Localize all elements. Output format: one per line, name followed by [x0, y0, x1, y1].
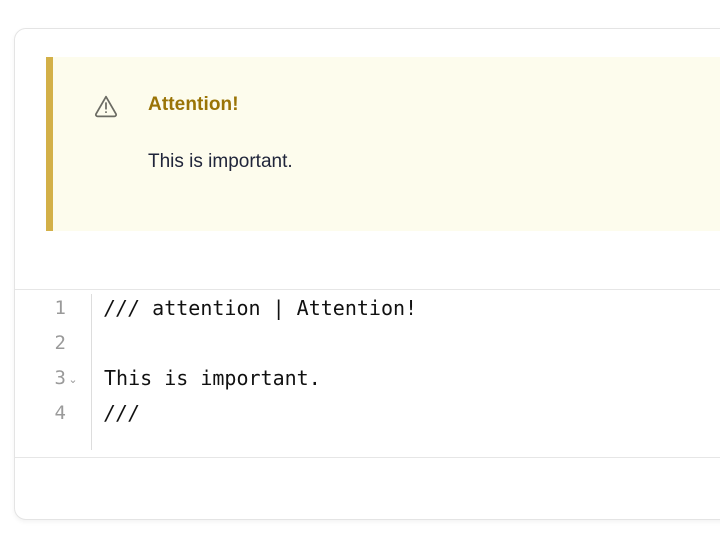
code-fence-token: /// — [104, 401, 140, 425]
code-editor[interactable]: 1 /// attention | Attention! 2 3 ⌄ This … — [15, 290, 720, 457]
line-number: 1 — [55, 297, 66, 319]
code-line-row[interactable]: 4 /// — [15, 395, 720, 430]
code-line-rest: This is important. — [104, 366, 321, 390]
code-line-row[interactable]: 2 — [15, 325, 720, 360]
admonition-attention: Attention! This is important. — [46, 57, 720, 231]
preview-card: Attention! This is important. 1 /// atte… — [14, 28, 720, 520]
code-line-content[interactable]: This is important. — [85, 366, 321, 390]
rendered-preview-pane: Attention! This is important. — [15, 29, 720, 289]
code-line-content[interactable]: /// — [85, 401, 140, 425]
line-number: 3 — [55, 367, 66, 389]
code-line-row[interactable]: 1 /// attention | Attention! — [15, 290, 720, 325]
fold-chevron-icon[interactable]: ⌄ — [66, 374, 80, 385]
line-number: 4 — [55, 402, 66, 424]
line-gutter: 1 — [15, 290, 85, 325]
app-root: Attention! This is important. 1 /// atte… — [0, 0, 720, 544]
line-gutter: 3 ⌄ — [15, 360, 85, 395]
code-line-content[interactable]: /// attention | Attention! — [85, 296, 417, 320]
line-number: 2 — [55, 332, 66, 354]
code-line-row[interactable]: 3 ⌄ This is important. — [15, 360, 720, 395]
line-gutter: 2 — [15, 325, 85, 360]
code-fence-token: /// — [104, 296, 140, 320]
admonition-body-text: This is important. — [148, 149, 293, 175]
admonition-title: Attention! — [148, 92, 239, 118]
line-gutter: 4 — [15, 395, 85, 430]
code-line-rest: attention | Attention! — [140, 296, 417, 320]
warning-triangle-icon — [93, 93, 119, 119]
editor-footer-divider — [15, 457, 720, 458]
